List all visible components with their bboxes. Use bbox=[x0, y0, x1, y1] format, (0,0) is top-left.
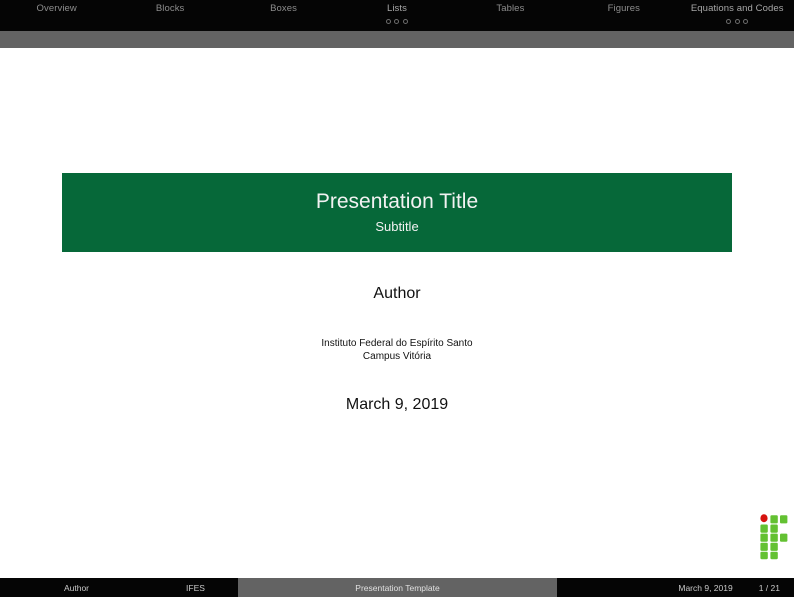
nav-label: Lists bbox=[387, 3, 407, 15]
nav-subsection-dots[interactable] bbox=[386, 18, 408, 25]
nav-subsection-dot[interactable] bbox=[726, 19, 731, 24]
ifes-logo bbox=[759, 514, 789, 560]
nav-label: Boxes bbox=[270, 3, 297, 15]
nav-item-figures[interactable]: Figures bbox=[567, 0, 680, 15]
footer-right: March 9, 2019 1 / 21 bbox=[557, 578, 794, 597]
presentation-date: March 9, 2019 bbox=[0, 396, 794, 414]
page-title: Presentation Title bbox=[316, 189, 478, 215]
nav-subsection-dot[interactable] bbox=[386, 19, 391, 24]
nav-subsection-dot[interactable] bbox=[735, 19, 740, 24]
nav-label: Overview bbox=[37, 3, 77, 15]
title-block: Presentation Title Subtitle bbox=[62, 173, 732, 252]
institute: Instituto Federal do Espírito Santo Camp… bbox=[0, 337, 794, 363]
nav-label: Equations and Codes bbox=[691, 3, 784, 15]
nav-subsection-dot[interactable] bbox=[743, 19, 748, 24]
nav-item-blocks[interactable]: Blocks bbox=[113, 0, 226, 15]
nav-label: Tables bbox=[496, 3, 524, 15]
nav-subsection-dots[interactable] bbox=[726, 18, 748, 25]
footer-page-number: 1 / 21 bbox=[759, 583, 780, 593]
nav-item-tables[interactable]: Tables bbox=[454, 0, 567, 15]
nav-subsection-dot[interactable] bbox=[394, 19, 399, 24]
navigation-bar: Overview Blocks Boxes Lists Tables Figur… bbox=[0, 0, 794, 31]
footer-title: Presentation Template bbox=[238, 578, 557, 597]
institute-line-1: Instituto Federal do Espírito Santo bbox=[0, 337, 794, 350]
nav-subsection-dot[interactable] bbox=[403, 19, 408, 24]
author-name: Author bbox=[0, 285, 794, 303]
page-subtitle: Subtitle bbox=[375, 218, 418, 236]
footer-author: Author bbox=[0, 578, 153, 597]
navigation-underbar bbox=[0, 31, 794, 48]
slide: Overview Blocks Boxes Lists Tables Figur… bbox=[0, 0, 794, 597]
nav-item-equations-and-codes[interactable]: Equations and Codes bbox=[681, 0, 794, 25]
nav-label: Blocks bbox=[156, 3, 185, 15]
logo-red-dot bbox=[760, 514, 767, 522]
footer-institute: IFES bbox=[153, 578, 238, 597]
nav-item-lists[interactable]: Lists bbox=[340, 0, 453, 25]
footer-bar: Author IFES Presentation Template March … bbox=[0, 578, 794, 597]
nav-item-overview[interactable]: Overview bbox=[0, 0, 113, 15]
footer-date: March 9, 2019 bbox=[678, 583, 732, 593]
nav-item-boxes[interactable]: Boxes bbox=[227, 0, 340, 15]
nav-label: Figures bbox=[608, 3, 640, 15]
institute-line-2: Campus Vitória bbox=[0, 350, 794, 363]
